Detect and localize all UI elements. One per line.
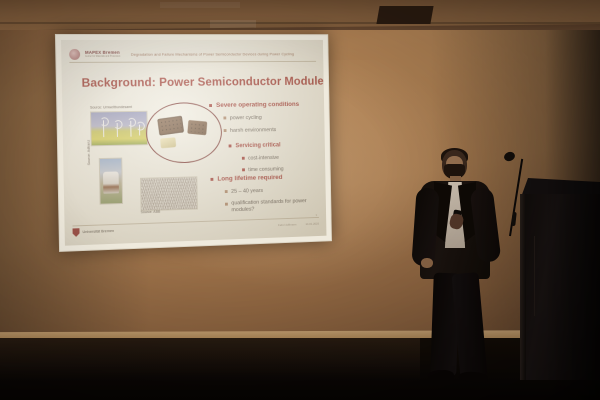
presenter-person bbox=[398, 148, 518, 400]
projection-screen: MAPEX Bremen Center for Materials and Pr… bbox=[55, 34, 332, 252]
university-label: Universität Bremen bbox=[82, 229, 114, 234]
slide-header-title: Degradation and Failure Mechanisms of Po… bbox=[131, 51, 294, 56]
module-terminal-dots bbox=[159, 118, 182, 134]
turbine-icon bbox=[139, 125, 140, 136]
lecture-room-scene: MAPEX Bremen Center for Materials and Pr… bbox=[0, 0, 600, 400]
mapex-logo-main: MAPEX Bremen bbox=[85, 51, 120, 55]
bullet-square-icon bbox=[224, 129, 227, 132]
bullet-square-icon bbox=[242, 169, 244, 172]
power-module-photo-large bbox=[157, 116, 184, 136]
bullet-cost-intensive: cost-intensive bbox=[242, 155, 279, 162]
turbine-icon bbox=[103, 120, 104, 137]
footer-presenter: Felix Hoffmann bbox=[278, 222, 296, 226]
bullet-servicing-critical: Servicing critical bbox=[229, 142, 281, 150]
bullet-label: Long lifetime required bbox=[217, 174, 282, 182]
lectern-seam bbox=[534, 236, 535, 316]
bullet-square-icon bbox=[242, 157, 244, 160]
highlight-ellipse bbox=[145, 102, 222, 164]
bullet-qualification-standards: qualification standards for power module… bbox=[225, 198, 316, 215]
bullet-square-icon bbox=[209, 104, 212, 107]
bullet-long-lifetime-required: Long lifetime required bbox=[210, 174, 282, 183]
lectern-edge bbox=[520, 194, 526, 380]
train-image bbox=[99, 158, 123, 205]
bullet-square-icon bbox=[223, 117, 226, 120]
presenter-hand-left bbox=[421, 258, 433, 268]
turbine-icon bbox=[130, 121, 131, 137]
bullet-label: cost-intensive bbox=[248, 155, 279, 161]
wind-turbines-image bbox=[90, 111, 148, 147]
presenter-shoe-left bbox=[427, 369, 454, 383]
mapex-logo-sub: Center for Materials and Processes bbox=[85, 56, 120, 58]
bullet-square-icon bbox=[210, 177, 213, 180]
train-body bbox=[103, 171, 119, 193]
abb-schematic-image bbox=[140, 176, 198, 211]
power-module-photo-small bbox=[187, 120, 207, 135]
bullet-label: power cycling bbox=[230, 115, 262, 121]
ceiling-seam bbox=[0, 22, 600, 24]
slide-footer: Universität Bremen Felix Hoffmann 14.01.… bbox=[72, 217, 319, 238]
slide-header: MAPEX Bremen Center for Materials and Pr… bbox=[69, 47, 316, 63]
train-source-label: Source: Adtranz bbox=[86, 131, 91, 165]
bullet-label: time consuming bbox=[248, 166, 284, 173]
bullet-label: Severe operating conditions bbox=[216, 101, 299, 109]
floor-reflection bbox=[0, 338, 420, 400]
footer-date: 14.01.2020 bbox=[305, 222, 319, 226]
presenter-leg-right bbox=[451, 272, 487, 380]
power-module-photo-white bbox=[160, 137, 176, 148]
turbine-icon bbox=[117, 123, 118, 137]
university-shield-icon bbox=[73, 228, 80, 237]
bullet-power-cycling: power cycling bbox=[223, 115, 261, 121]
slide-title: Background: Power Semiconductor Modules bbox=[81, 74, 326, 90]
bullet-label: 25 – 40 years bbox=[231, 188, 263, 195]
ceiling-panel bbox=[210, 20, 256, 28]
bullet-time-consuming: time consuming bbox=[242, 166, 284, 173]
bullet-label: harsh environments bbox=[230, 127, 276, 134]
bullet-label: qualification standards for power module… bbox=[231, 198, 316, 214]
mapex-logo-icon bbox=[69, 49, 80, 60]
abb-source-label: Source: ABB bbox=[141, 210, 161, 215]
module-terminal-dots bbox=[189, 122, 205, 133]
presentation-slide: MAPEX Bremen Center for Materials and Pr… bbox=[61, 40, 326, 246]
right-side-shadow bbox=[545, 30, 600, 400]
bullet-square-icon bbox=[225, 203, 228, 206]
bullet-severe-operating-conditions: Severe operating conditions bbox=[209, 101, 299, 109]
bullet-square-icon bbox=[225, 190, 228, 193]
wind-source-label: Source: Umweltbundesamt bbox=[90, 105, 132, 109]
bullet-25-40-years: 25 – 40 years bbox=[225, 188, 263, 195]
ceiling-vent bbox=[376, 6, 433, 24]
footer-right-group: Felix Hoffmann 14.01.2020 bbox=[278, 222, 319, 227]
bullet-harsh-environments: harsh environments bbox=[224, 127, 277, 134]
mapex-logo-text: MAPEX Bremen Center for Materials and Pr… bbox=[85, 51, 120, 58]
bullet-label: Servicing critical bbox=[235, 142, 280, 150]
ceiling-panel bbox=[160, 2, 240, 8]
bullet-square-icon bbox=[229, 144, 232, 147]
